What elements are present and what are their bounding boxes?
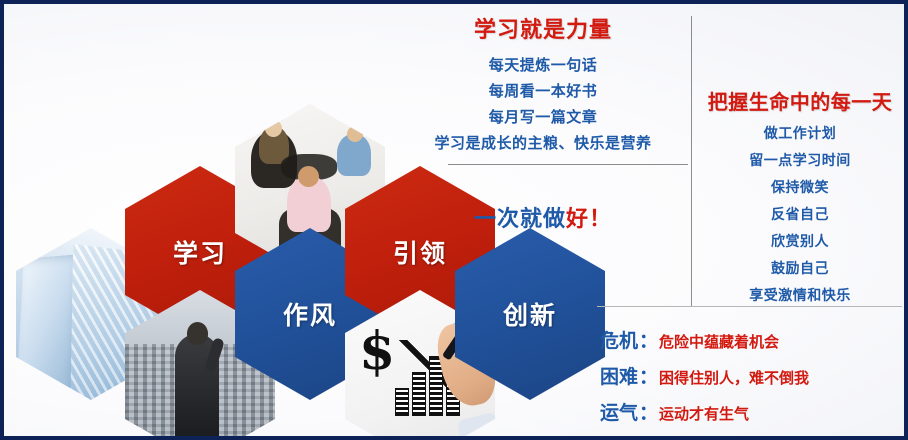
learning-text-block: 学习就是力量 每天提炼一句话 每周看一本好书 每月写一篇文章 学习是成长的主粮、… <box>398 12 688 156</box>
hexagon-learning-label: 学习 <box>173 234 227 270</box>
everyday-line-3: 保持微笑 <box>696 175 904 202</box>
slogan-text: 一次就做好！ <box>398 201 688 233</box>
definition-value-1: 危险中蕴藏着机会 <box>659 331 779 352</box>
vertical-divider <box>691 16 692 306</box>
hexagon-style-label: 作风 <box>283 296 337 332</box>
everyday-line-1: 做工作计划 <box>696 121 904 148</box>
definition-separator-1: ： <box>638 326 659 353</box>
definition-value-3: 运动才有生气 <box>659 403 749 424</box>
everyday-line-4: 反省自己 <box>696 202 904 229</box>
definition-key-1: 危机 <box>600 326 638 353</box>
learning-line-2: 每周看一本好书 <box>398 78 688 104</box>
definition-value-2: 困得住别人，难不倒我 <box>659 367 809 388</box>
definition-row-2: 困难 ： 困得住别人，难不倒我 <box>600 362 900 389</box>
everyday-title: 把握生命中的每一天 <box>696 86 904 115</box>
slogan-red-part: 好！ <box>566 207 612 232</box>
learning-line-3: 每月写一篇文章 <box>398 104 688 130</box>
everyday-line-6: 鼓励自己 <box>696 256 904 283</box>
definition-separator-2: ： <box>638 362 659 389</box>
everyday-text-block: 把握生命中的每一天 做工作计划 留一点学习时间 保持微笑 反省自己 欣赏别人 鼓… <box>696 86 904 310</box>
slogan-blue-part: 一次就做 <box>474 207 566 232</box>
learning-line-4: 学习是成长的主粮、快乐是营养 <box>398 130 688 156</box>
everyday-line-7: 享受激情和快乐 <box>696 283 904 310</box>
hexagon-leading-label: 引领 <box>393 234 447 270</box>
slide-canvas: 学习 作风 引领 $ <box>0 0 908 440</box>
hexagon-innovation-label: 创新 <box>503 296 557 332</box>
definition-key-3: 运气 <box>600 398 638 425</box>
horizontal-divider-top <box>448 164 688 165</box>
definition-row-3: 运气 ： 运动才有生气 <box>600 398 900 425</box>
everyday-line-5: 欣赏别人 <box>696 229 904 256</box>
everyday-line-2: 留一点学习时间 <box>696 148 904 175</box>
definition-separator-3: ： <box>638 398 659 425</box>
learning-title: 学习就是力量 <box>398 12 688 44</box>
definition-row-1: 危机 ： 危险中蕴藏着机会 <box>600 326 900 353</box>
definitions-block: 危机 ： 危险中蕴藏着机会 困难 ： 困得住别人，难不倒我 运气 ： 运动才有生… <box>600 326 900 434</box>
learning-line-1: 每天提炼一句话 <box>398 52 688 78</box>
definition-key-2: 困难 <box>600 362 638 389</box>
